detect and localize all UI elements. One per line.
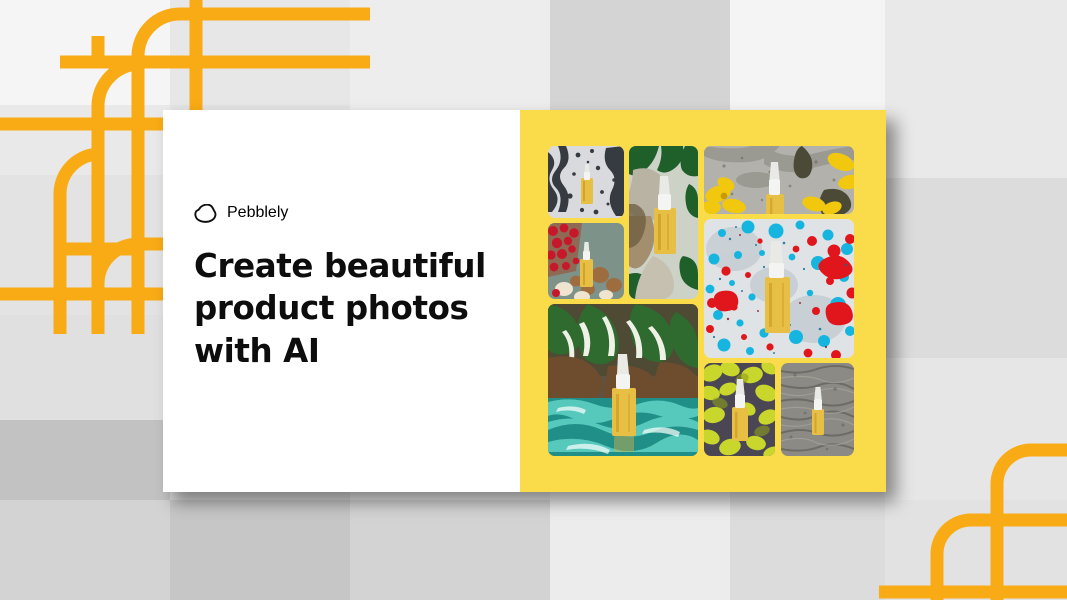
gallery-tile-paint-splatter[interactable] bbox=[704, 219, 854, 358]
gallery-tile-berries-nuts[interactable] bbox=[548, 223, 624, 299]
background-block bbox=[885, 0, 1067, 178]
gallery-tile-wood-bark[interactable] bbox=[781, 363, 854, 456]
background-block bbox=[730, 500, 885, 600]
page-title: Create beautiful product photos with AI bbox=[194, 245, 520, 372]
image-collage bbox=[548, 146, 858, 456]
background-block bbox=[550, 500, 730, 600]
background-block bbox=[0, 0, 170, 105]
gallery-tile-poolside[interactable] bbox=[548, 304, 698, 456]
brand-name: Pebblely bbox=[227, 204, 288, 222]
gallery-tile-tropical-leaf[interactable] bbox=[629, 146, 698, 299]
background-block bbox=[885, 358, 1067, 500]
background-block bbox=[170, 500, 350, 600]
card-gallery-panel bbox=[520, 110, 886, 492]
poster-canvas: Pebblely Create beautiful product photos… bbox=[0, 0, 1067, 600]
background-block bbox=[170, 0, 350, 105]
background-block bbox=[0, 420, 170, 500]
gallery-tile-ginkgo-leaves[interactable] bbox=[704, 363, 775, 456]
background-block bbox=[0, 500, 170, 600]
background-block bbox=[0, 315, 170, 420]
brand-lockup: Pebblely bbox=[194, 202, 520, 224]
background-block bbox=[885, 500, 1067, 600]
promo-card: Pebblely Create beautiful product photos… bbox=[163, 110, 886, 492]
card-text-panel: Pebblely Create beautiful product photos… bbox=[163, 110, 520, 492]
pebble-cloud-icon bbox=[194, 204, 219, 223]
gallery-tile-marble-stone[interactable] bbox=[548, 146, 624, 218]
background-block bbox=[550, 0, 730, 115]
background-block bbox=[0, 105, 170, 175]
background-block bbox=[350, 0, 550, 115]
gallery-tile-concrete-flower[interactable] bbox=[704, 146, 854, 214]
background-block bbox=[0, 175, 170, 315]
background-block bbox=[730, 0, 885, 115]
background-block bbox=[350, 500, 550, 600]
background-block bbox=[885, 178, 1067, 358]
